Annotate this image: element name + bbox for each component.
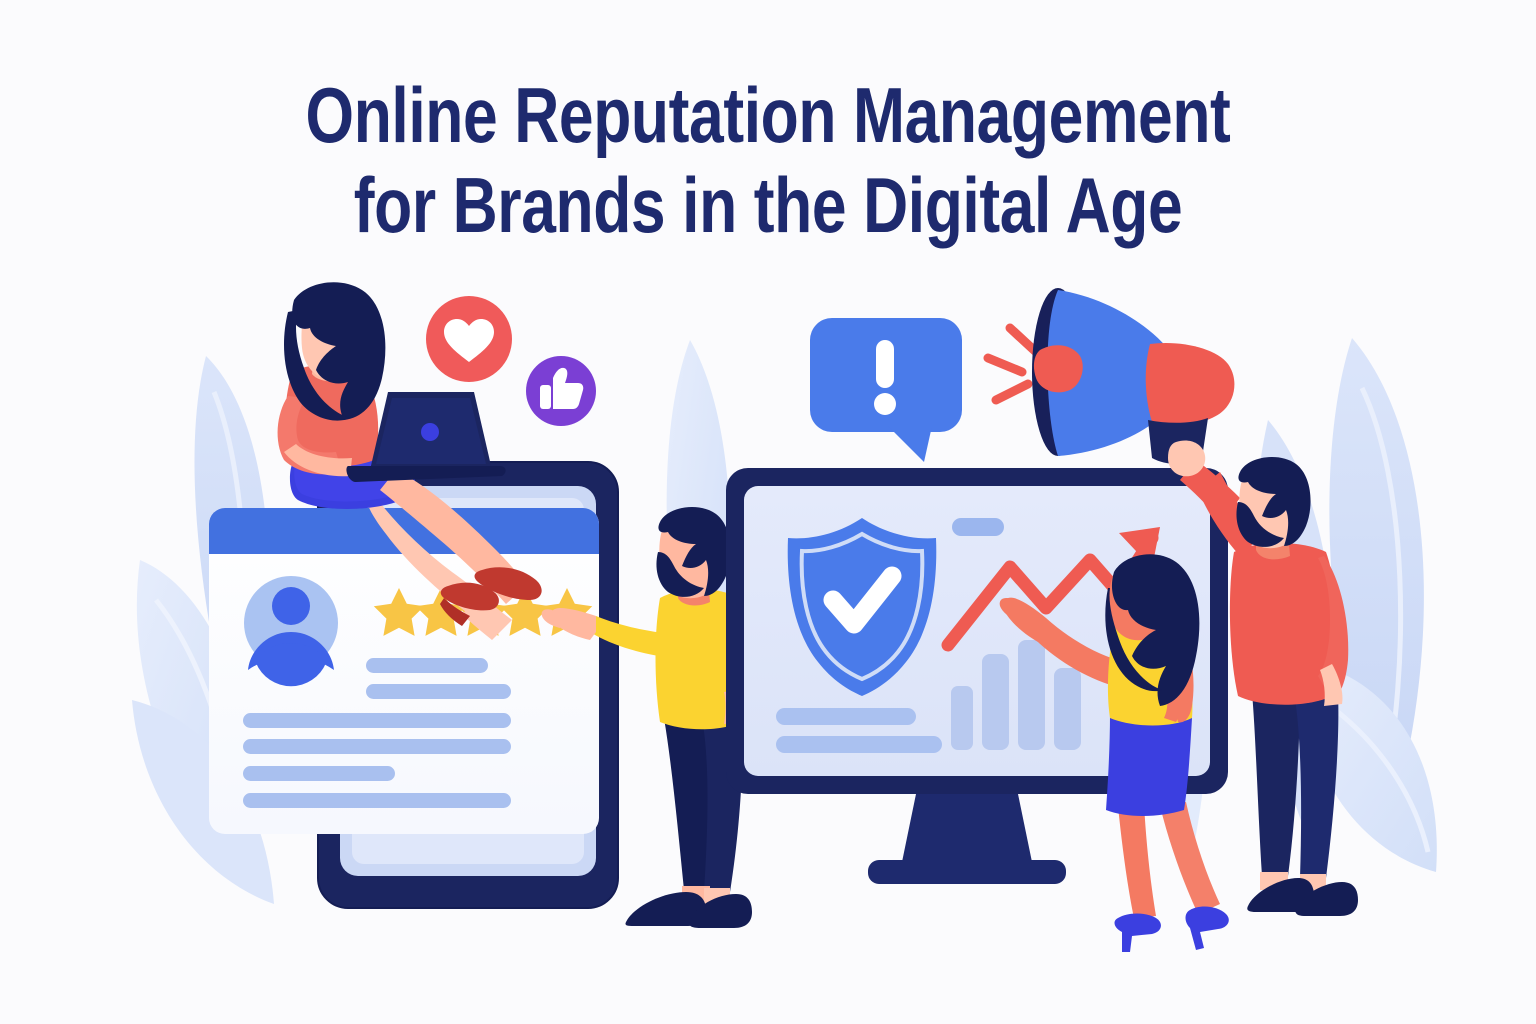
thumbs-up-icon[interactable] bbox=[526, 356, 596, 426]
review-card[interactable] bbox=[209, 508, 599, 834]
illustration-canvas bbox=[0, 0, 1536, 1024]
heart-icon[interactable] bbox=[426, 296, 512, 382]
monitor-stand bbox=[902, 794, 1032, 862]
status-pill bbox=[952, 518, 1004, 536]
monitor-base bbox=[868, 860, 1066, 884]
